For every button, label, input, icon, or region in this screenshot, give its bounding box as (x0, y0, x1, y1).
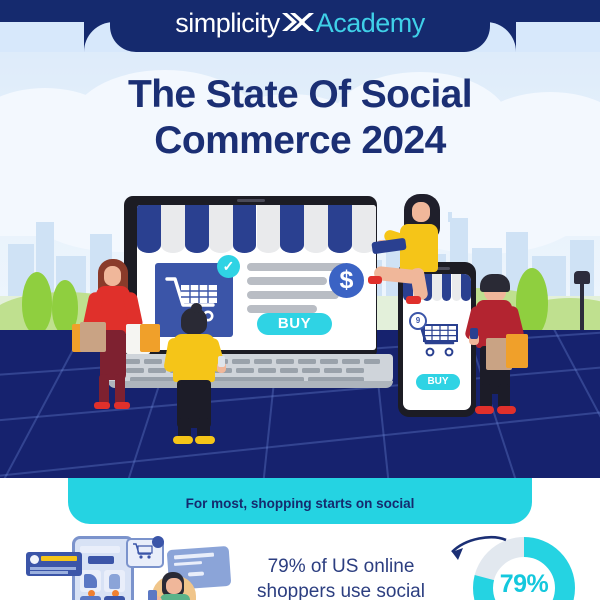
cart-count-badge (152, 536, 164, 548)
shopper-woman-bags (78, 262, 148, 422)
collection-chip (88, 556, 114, 564)
laptop-base-edge (108, 381, 393, 388)
laptop-lid: ✓ $ BUY (124, 196, 377, 359)
product-dress-icon (109, 574, 120, 589)
avatar (30, 555, 39, 564)
shopping-cart-icon (132, 542, 154, 560)
star-rating-icon (41, 556, 77, 561)
shopping-bag (80, 322, 106, 352)
verified-check-icon: ✓ (217, 255, 240, 278)
infographic-page: ✓ $ BUY (0, 0, 600, 600)
shopping-bag (506, 334, 528, 368)
section-banner-wrap: For most, shopping starts on social (0, 478, 600, 530)
title-line-2: Commerce 2024 (0, 118, 600, 164)
shopping-bag (140, 324, 160, 352)
logo-academy-text: Academy (316, 8, 425, 38)
page-title: The State Of Social Commerce 2024 (0, 72, 600, 164)
seated-woman-tablet (378, 196, 468, 306)
pointer-arrow-icon (436, 534, 510, 570)
section-banner-label: For most, shopping starts on social (68, 478, 532, 524)
awning-icon (137, 205, 376, 253)
product-shoe-icon (84, 574, 97, 588)
stat-text-line-1: 79% of US online (246, 554, 436, 579)
stat-text-line-2: shoppers use social (246, 579, 436, 600)
brand-logo[interactable]: simplicityAcademy (0, 8, 600, 39)
shopper-man-bags (468, 276, 538, 426)
price-icon: $ (329, 263, 364, 298)
buy-button-phone[interactable]: BUY (416, 374, 460, 390)
buy-button-laptop[interactable]: BUY (257, 313, 332, 335)
logo-chevron-icon (281, 9, 315, 39)
stat-text: 79% of US online shoppers use social (246, 554, 436, 600)
laptop-keyboard (108, 354, 393, 382)
cart-count-badge: 9 (409, 312, 427, 330)
title-line-1: The State Of Social (0, 72, 600, 118)
smartphone-icon (148, 590, 157, 600)
logo-simplicity-text: simplicity (175, 8, 280, 38)
laptop-storefront: ✓ $ BUY (118, 196, 383, 396)
smartphone-icon (470, 328, 478, 339)
section-banner: For most, shopping starts on social (68, 478, 532, 524)
stat-percent-label: 79% (470, 570, 578, 599)
smartphone-icon (218, 356, 225, 367)
shopper-man-phone (165, 308, 225, 448)
